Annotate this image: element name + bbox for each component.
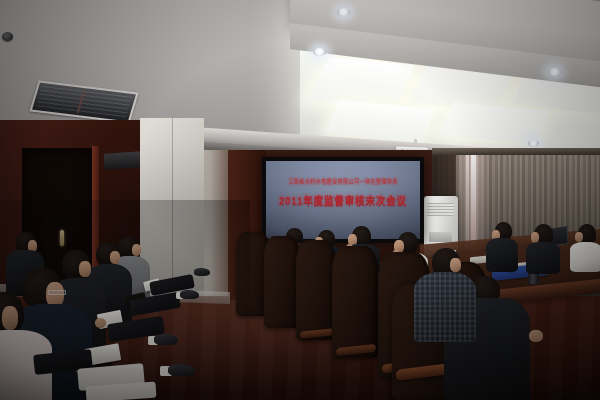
face: [132, 244, 141, 256]
hand: [529, 330, 543, 342]
slide-title: 2011年度监督审核末次会议: [279, 192, 407, 208]
face: [79, 261, 91, 277]
shoe: [168, 364, 195, 376]
face: [450, 258, 461, 272]
chair-back: [264, 236, 300, 328]
curtain-rail: [432, 148, 600, 155]
shoe: [154, 334, 178, 345]
chair-back: [332, 246, 378, 358]
shoe: [180, 290, 199, 299]
door-handle: [60, 230, 64, 246]
face: [110, 251, 120, 264]
shoe: [194, 268, 210, 276]
torso: [570, 242, 600, 272]
slide-subtitle: 江西省水利水电建设有限公司一体化管理体系: [288, 177, 398, 186]
hand: [95, 318, 106, 328]
slide-content: 江西省水利水电建设有限公司一体化管理体系 2011年度监督审核末次会议: [266, 161, 420, 239]
downlight-icon: [528, 140, 539, 147]
torso: [486, 238, 518, 272]
vent-louvers: [36, 86, 132, 118]
chair-back: [296, 240, 336, 340]
ac-grille: [427, 203, 454, 216]
face: [575, 232, 583, 242]
face: [2, 306, 18, 330]
ac-control-panel: [429, 232, 452, 242]
torso: [526, 242, 560, 274]
conference-room-photo: 江西省水利水电建设有限公司一体化管理体系 2011年度监督审核末次会议: [0, 0, 600, 400]
downlight-icon: [313, 48, 326, 56]
downlight-icon: [548, 68, 561, 76]
torso: [414, 272, 476, 342]
smoke-detector: [2, 32, 13, 41]
glasses-icon: [48, 290, 66, 295]
downlight-icon: [337, 8, 350, 16]
